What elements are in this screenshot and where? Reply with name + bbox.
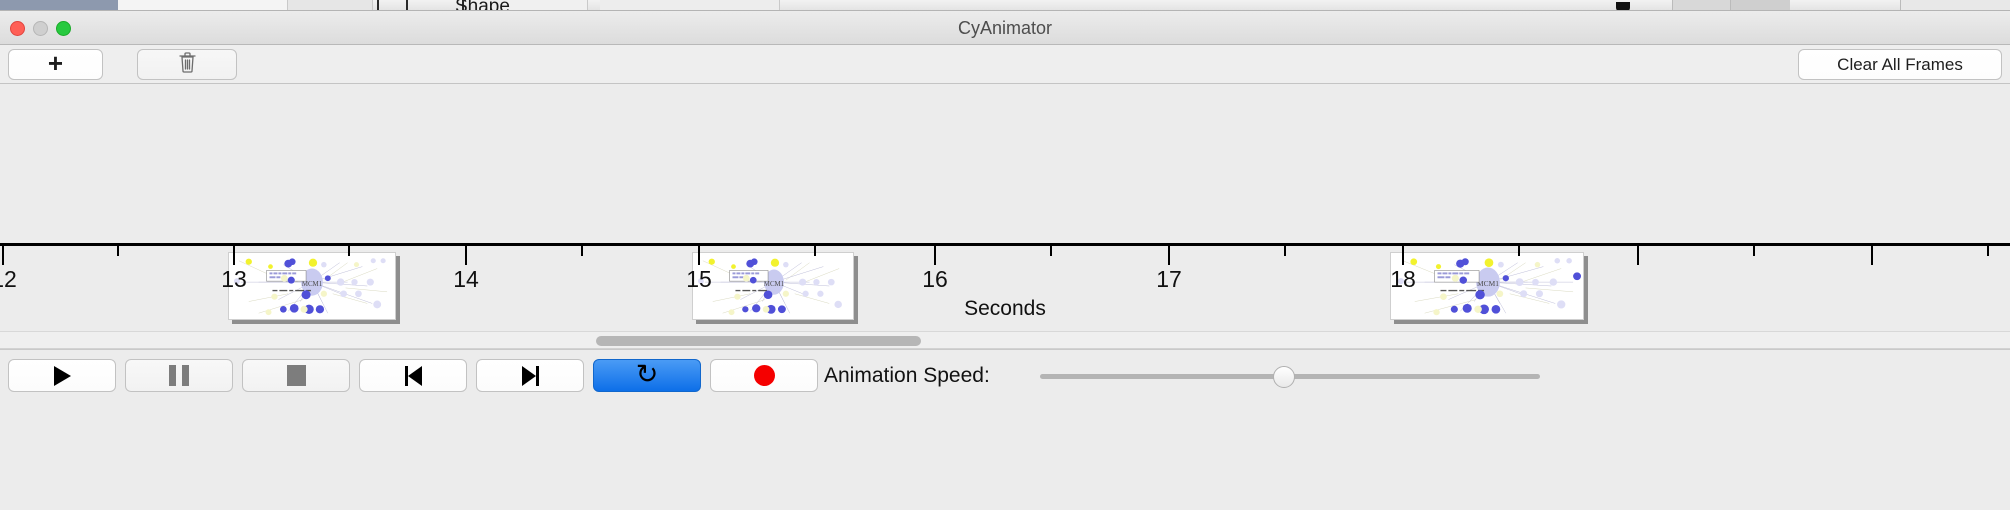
background-titlebar-fill — [0, 0, 118, 11]
horizontal-scrollbar[interactable] — [0, 331, 2010, 349]
add-frame-button[interactable]: + — [8, 49, 103, 80]
stop-button[interactable] — [242, 359, 350, 392]
record-button[interactable] — [710, 359, 818, 392]
skip-forward-icon — [522, 366, 539, 386]
animation-speed-slider[interactable] — [1040, 374, 1540, 379]
ruler-tick-minor — [814, 246, 816, 256]
ruler-label: 16 — [922, 266, 948, 293]
skip-back-icon — [405, 366, 422, 386]
ruler-tick-minor — [1518, 246, 1520, 256]
ruler-tick-major — [2, 246, 4, 265]
delete-frame-button[interactable] — [137, 49, 237, 80]
background-segment — [288, 0, 373, 11]
ruler-tick-minor — [1050, 246, 1052, 256]
ruler-tick-major — [465, 246, 467, 265]
ruler-tick-minor — [1284, 246, 1286, 256]
ruler-label: 17 — [1156, 266, 1182, 293]
animation-speed-label: Animation Speed: — [824, 364, 990, 388]
ruler-tick-major — [233, 246, 235, 265]
record-icon — [754, 365, 775, 386]
play-button[interactable] — [8, 359, 116, 392]
svg-text:MCM1: MCM1 — [1477, 279, 1499, 288]
ruler-tick-major — [1168, 246, 1170, 265]
plus-icon: + — [48, 50, 63, 76]
ruler-tick-minor — [581, 246, 583, 256]
ruler-label: 12 — [0, 266, 17, 293]
pause-icon — [169, 365, 189, 386]
loop-button[interactable]: ↻ — [593, 359, 701, 392]
pause-button[interactable] — [125, 359, 233, 392]
background-panel — [1900, 0, 2010, 11]
ruler-tick-major — [1402, 246, 1404, 265]
trash-icon — [178, 51, 197, 78]
horizontal-scrollbar-thumb[interactable] — [596, 336, 921, 346]
background-panel — [1730, 0, 1790, 11]
clear-all-frames-label: Clear All Frames — [1837, 55, 1963, 75]
svg-text:MCM1: MCM1 — [302, 281, 323, 288]
ruler-label: 15 — [686, 266, 712, 293]
loop-icon: ↻ — [636, 361, 659, 388]
ruler-tick-minor — [1987, 246, 1989, 256]
skip-to-end-button[interactable] — [476, 359, 584, 392]
window-title: CyAnimator — [0, 11, 2010, 45]
timeline-ruler-line — [0, 243, 2010, 246]
ruler-label: 13 — [221, 266, 247, 293]
background-panel — [1672, 0, 1730, 11]
ruler-tick-major — [934, 246, 936, 265]
ruler-tick-minor — [117, 246, 119, 256]
skip-to-start-button[interactable] — [359, 359, 467, 392]
transport-bar: ↻ Animation Speed: — [0, 349, 2010, 510]
ruler-label: 18 — [1390, 266, 1416, 293]
play-icon — [54, 366, 71, 386]
window-titlebar: CyAnimator — [0, 11, 2010, 45]
animation-speed-slider-thumb[interactable] — [1273, 366, 1295, 388]
background-window-strip: Shape — [0, 0, 2010, 11]
background-tick — [406, 0, 408, 11]
ruler-tick-major — [1637, 246, 1639, 265]
stop-icon — [287, 365, 306, 386]
toolbar: + Clear All Frames — [0, 45, 2010, 84]
background-cursor-blob — [1616, 2, 1630, 11]
ruler-tick-minor — [1753, 246, 1755, 256]
background-menu-label: Shape — [455, 0, 510, 11]
ruler-tick-minor — [348, 246, 350, 256]
clear-all-frames-button[interactable]: Clear All Frames — [1798, 49, 2002, 80]
ruler-label: 14 — [453, 266, 479, 293]
background-segment — [600, 0, 780, 11]
timeline-panel[interactable]: MCM1 — [0, 84, 2010, 331]
svg-text:MCM1: MCM1 — [764, 281, 785, 288]
background-tick — [377, 0, 379, 11]
ruler-tick-major — [1871, 246, 1873, 265]
ruler-axis-title: Seconds — [0, 297, 2010, 321]
ruler-tick-major — [698, 246, 700, 265]
background-segment — [118, 0, 288, 11]
